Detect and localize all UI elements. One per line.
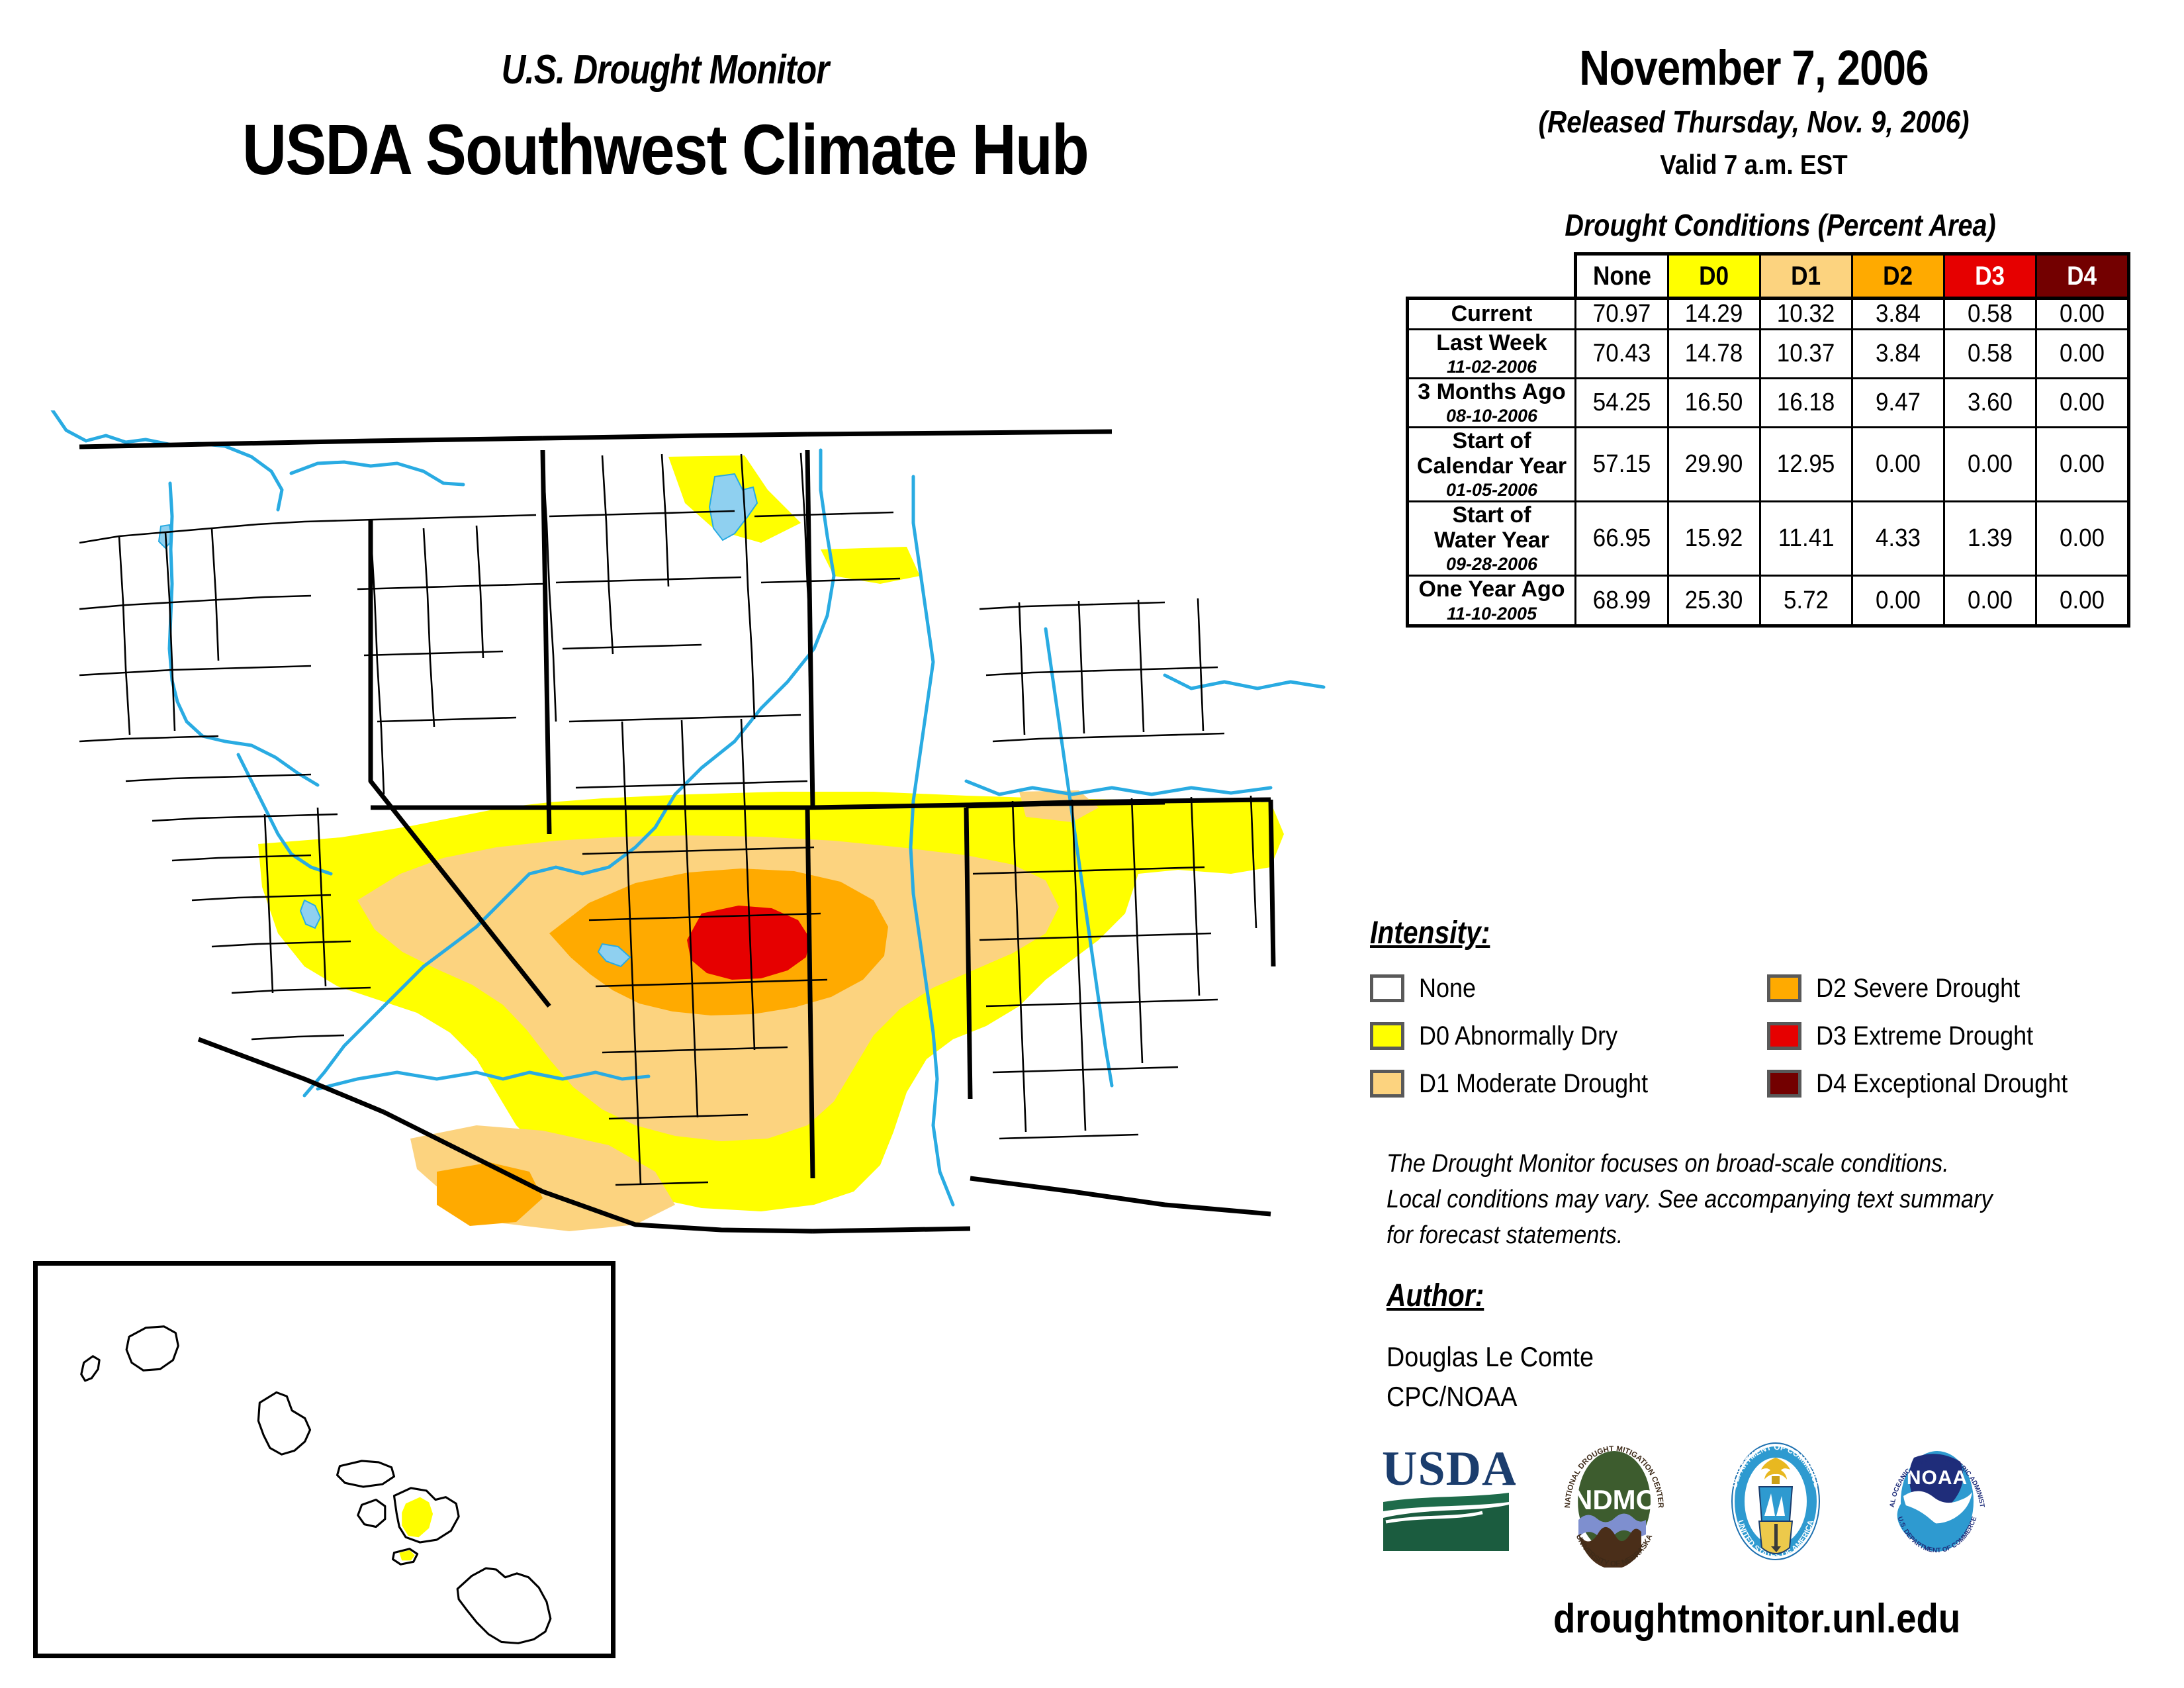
table-header-label: D0: [1699, 261, 1729, 291]
map-date: November 7, 2006: [1406, 40, 2101, 96]
border-tx-panhandle: [1271, 800, 1273, 966]
table-header-label: D1: [1791, 261, 1821, 291]
table-header: NoneD0D1D2D3D4: [1408, 254, 2129, 299]
border-nv-ut: [543, 450, 549, 834]
border-ca-south: [199, 1039, 384, 1112]
table-body: Current70.9714.2910.323.840.580.00Last W…: [1408, 299, 2129, 626]
table-cell-value: 0.00: [1876, 450, 1921, 479]
table-cell-d4: 0.00: [2036, 502, 2129, 576]
legend-swatch: [1767, 974, 1801, 1002]
table-cell-value: 5.72: [1784, 586, 1829, 615]
border-ut-wy: [807, 432, 1112, 434]
legend-label: D0 Abnormally Dry: [1419, 1021, 1617, 1051]
table-cell-none: 66.95: [1576, 502, 1668, 576]
table-cell-d3: 1.39: [1944, 502, 2036, 576]
table-cell-value: 9.47: [1876, 389, 1921, 417]
row-label-date: 11-10-2005: [1409, 604, 1574, 624]
row-label: 3 Months Ago08-10-2006: [1408, 379, 1576, 428]
table-cell-d0: 14.78: [1668, 330, 1760, 379]
table-cell-value: 70.97: [1593, 300, 1651, 328]
table-cell-d0: 29.90: [1668, 428, 1760, 502]
svg-text:NOAA: NOAA: [1907, 1467, 1968, 1489]
table-cell-value: 14.78: [1685, 340, 1743, 368]
river-canadian: [966, 781, 1271, 794]
row-label-date: 08-10-2006: [1409, 406, 1574, 426]
table-header-row: NoneD0D1D2D3D4: [1408, 254, 2129, 299]
table-cell-value: 0.00: [2060, 524, 2105, 553]
author-name: Douglas Le Comte: [1387, 1337, 1594, 1377]
table-cell-d3: 0.00: [1944, 428, 2036, 502]
river-columbia: [50, 410, 282, 510]
logo-row: USDA NDMC NATIONAL DROUGHT MITIGATION CE…: [1377, 1423, 2138, 1582]
disclaimer-line-1: The Drought Monitor focuses on broad-sca…: [1387, 1147, 2060, 1182]
table-cell-value: 12.95: [1777, 450, 1835, 479]
row-label-text: 3 Months Ago: [1409, 379, 1574, 404]
row-label-date: 11-02-2006: [1409, 357, 1574, 377]
drought-map[interactable]: [40, 410, 1337, 1244]
table-cell-value: 11.41: [1778, 524, 1835, 553]
table-header-label: D3: [1975, 261, 2005, 291]
table-cell-d4: 0.00: [2036, 330, 2129, 379]
author-agency: CPC/NOAA: [1387, 1377, 1594, 1417]
row-label-text: Last Week: [1409, 330, 1574, 355]
row-label: One Year Ago11-10-2005: [1408, 576, 1576, 626]
table-cell-value: 10.32: [1777, 300, 1835, 328]
row-label-text: Current: [1409, 301, 1574, 326]
table-row: 3 Months Ago08-10-200654.2516.5016.189.4…: [1408, 379, 2129, 428]
table-cell-d4: 0.00: [2036, 576, 2129, 626]
table-cell-d3: 0.58: [1944, 330, 2036, 379]
legend-grid: NoneD2 Severe DroughtD0 Abnormally DryD3…: [1370, 964, 2158, 1107]
legend-swatch: [1767, 1022, 1801, 1050]
table-header-d4: D4: [2036, 254, 2129, 299]
table-cell-value: 3.84: [1876, 340, 1921, 368]
svg-text:USDA: USDA: [1382, 1442, 1516, 1496]
table-cell-value: 16.18: [1777, 389, 1835, 417]
table-cell-value: 68.99: [1593, 586, 1651, 615]
table-cell-value: 0.00: [1876, 586, 1921, 615]
table-cell-d0: 15.92: [1668, 502, 1760, 576]
website-url[interactable]: droughtmonitor.unl.edu: [1350, 1595, 2164, 1642]
right-column: November 7, 2006 (Released Thursday, Nov…: [1350, 40, 2158, 628]
legend-item: D1 Moderate Drought: [1370, 1069, 1767, 1099]
border-ut-co: [807, 450, 813, 808]
valid-time: Valid 7 a.m. EST: [1398, 149, 2109, 181]
table-header-label: D2: [1883, 261, 1913, 291]
table-cell-value: 0.00: [1968, 450, 2013, 479]
table-cell-value: 0.58: [1968, 340, 2013, 368]
table-cell-d0: 16.50: [1668, 379, 1760, 428]
island-lanai: [358, 1500, 385, 1527]
river-snake: [291, 462, 463, 485]
svg-text:NDMC: NDMC: [1572, 1484, 1656, 1515]
table-cell-d2: 3.84: [1852, 299, 1944, 330]
author-block: Douglas Le Comte CPC/NOAA: [1387, 1337, 1617, 1416]
legend-label: D3 Extreme Drought: [1816, 1021, 2033, 1051]
page-subtitle: U.S. Drought Monitor: [120, 46, 1210, 93]
hawaii-inset-svg: [38, 1266, 611, 1654]
island-hawaii: [457, 1568, 551, 1643]
disclaimer-line-3: for forecast statements.: [1387, 1218, 2060, 1254]
table-row: Current70.9714.2910.323.840.580.00: [1408, 299, 2129, 330]
table-cell-d2: 4.33: [1852, 502, 1944, 576]
river-arkansas: [1165, 675, 1324, 688]
table-cell-d1: 12.95: [1760, 428, 1852, 502]
page-title: USDA Southwest Climate Hub: [93, 108, 1238, 191]
header-spacer: [1408, 254, 1576, 299]
table-cell-d2: 3.84: [1852, 330, 1944, 379]
hawaii-inset-map[interactable]: [33, 1261, 615, 1658]
d0-area-utah-b: [821, 547, 920, 584]
drought-conditions-table: NoneD0D1D2D3D4 Current70.9714.2910.323.8…: [1406, 252, 2130, 628]
table-cell-none: 68.99: [1576, 576, 1668, 626]
border-ut-id: [543, 434, 807, 438]
row-label-text: Start ofCalendar Year: [1409, 428, 1574, 479]
table-cell-value: 0.00: [2060, 450, 2105, 479]
legend-item: D4 Exceptional Drought: [1767, 1069, 2158, 1099]
table-cell-value: 54.25: [1593, 389, 1651, 417]
table-header-d2: D2: [1852, 254, 1944, 299]
island-kauai: [126, 1327, 178, 1370]
island-oahu: [258, 1392, 310, 1454]
legend-swatch: [1370, 1022, 1404, 1050]
legend-item: D2 Severe Drought: [1767, 974, 2158, 1004]
table-cell-none: 70.97: [1576, 299, 1668, 330]
table-cell-d0: 14.29: [1668, 299, 1760, 330]
row-label: Last Week11-02-2006: [1408, 330, 1576, 379]
legend-item: None: [1370, 974, 1767, 1004]
table-row: One Year Ago11-10-200568.9925.305.720.00…: [1408, 576, 2129, 626]
doc-logo: DEPARTMENT OF COMMERCE UNITED STATES OF …: [1713, 1435, 1839, 1571]
table-cell-value: 4.33: [1876, 524, 1921, 553]
noaa-logo: NOAA NATIONAL OCEANIC AND ATMOSPHERIC AD…: [1874, 1435, 2000, 1571]
legend-item: D3 Extreme Drought: [1767, 1021, 2158, 1051]
row-label: Start ofCalendar Year01-05-2006: [1408, 428, 1576, 502]
table-cell-none: 54.25: [1576, 379, 1668, 428]
table-cell-value: 66.95: [1593, 524, 1651, 553]
map-drought-areas: [258, 455, 1284, 1231]
legend-item: D0 Abnormally Dry: [1370, 1021, 1767, 1051]
table-cell-value: 70.43: [1593, 340, 1651, 368]
legend-label: D1 Moderate Drought: [1419, 1069, 1648, 1099]
legend-label: None: [1419, 974, 1476, 1004]
legend-swatch: [1370, 974, 1404, 1002]
table-cell-d3: 0.00: [1944, 576, 2036, 626]
table-cell-d1: 10.32: [1760, 299, 1852, 330]
row-label-date: 01-05-2006: [1409, 480, 1574, 500]
table-cell-value: 0.00: [2060, 389, 2105, 417]
table-row: Last Week11-02-200670.4314.7810.373.840.…: [1408, 330, 2129, 379]
table-cell-d2: 9.47: [1852, 379, 1944, 428]
table-cell-value: 57.15: [1593, 450, 1651, 479]
table-cell-value: 1.39: [1968, 524, 2013, 553]
author-heading: Author:: [1387, 1278, 1484, 1314]
table-cell-d2: 0.00: [1852, 576, 1944, 626]
table-header-none: None: [1576, 254, 1668, 299]
border-tx-south: [970, 1178, 1271, 1214]
row-label-text-2: Calendar Year: [1409, 453, 1574, 479]
table-row: Start ofCalendar Year01-05-200657.1529.9…: [1408, 428, 2129, 502]
table-cell-value: 10.37: [1777, 340, 1835, 368]
table-cell-d3: 3.60: [1944, 379, 2036, 428]
river-sacramento: [169, 483, 318, 785]
table-cell-d4: 0.00: [2036, 379, 2129, 428]
border-nm-mexico: [813, 1229, 970, 1231]
table-cell-value: 3.84: [1876, 300, 1921, 328]
legend-label: D4 Exceptional Drought: [1816, 1069, 2068, 1099]
table-cell-value: 0.00: [2060, 300, 2105, 328]
drought-map-svg: [40, 410, 1337, 1244]
row-label-text-2: Water Year: [1409, 528, 1574, 553]
row-label-text: One Year Ago: [1409, 577, 1574, 602]
table-cell-value: 0.00: [2060, 586, 2105, 615]
disclaimer-line-2: Local conditions may vary. See accompany…: [1387, 1182, 2060, 1218]
island-niihau: [81, 1356, 99, 1381]
usda-logo: USDA: [1377, 1438, 1516, 1568]
row-label: Current: [1408, 299, 1576, 330]
table-header-d3: D3: [1944, 254, 2036, 299]
disclaimer: The Drought Monitor focuses on broad-sca…: [1387, 1147, 2134, 1254]
table-cell-value: 16.50: [1685, 389, 1743, 417]
table-row: Start ofWater Year09-28-200666.9515.9211…: [1408, 502, 2129, 576]
legend-title: Intensity:: [1370, 915, 1490, 951]
table-caption: Drought Conditions (Percent Area): [1456, 207, 2105, 243]
title-block: U.S. Drought Monitor USDA Southwest Clim…: [0, 46, 1330, 191]
table-cell-d3: 0.58: [1944, 299, 2036, 330]
table-cell-value: 0.00: [2060, 340, 2105, 368]
table-cell-value: 29.90: [1685, 450, 1743, 479]
table-cell-d1: 5.72: [1760, 576, 1852, 626]
legend-swatch: [1370, 1070, 1404, 1098]
legend-label: D2 Severe Drought: [1816, 974, 2020, 1004]
table-cell-none: 70.43: [1576, 330, 1668, 379]
table-cell-d4: 0.00: [2036, 299, 2129, 330]
row-label-text: Start ofWater Year: [1409, 502, 1574, 553]
table-cell-d1: 11.41: [1760, 502, 1852, 576]
table-cell-value: 15.92: [1685, 524, 1743, 553]
legend-swatch: [1767, 1070, 1801, 1098]
row-label-date: 09-28-2006: [1409, 554, 1574, 575]
table-cell-value: 0.00: [1968, 586, 2013, 615]
table-cell-value: 3.60: [1968, 389, 2013, 417]
release-date: (Released Thursday, Nov. 9, 2006): [1398, 104, 2109, 140]
table-cell-value: 14.29: [1685, 300, 1743, 328]
island-molokai: [338, 1461, 394, 1487]
legend: Intensity: NoneD2 Severe DroughtD0 Abnor…: [1370, 915, 2158, 1107]
table-header-label: None: [1593, 261, 1651, 291]
table-header-d0: D0: [1668, 254, 1760, 299]
row-label: Start ofWater Year09-28-2006: [1408, 502, 1576, 576]
table-cell-d4: 0.00: [2036, 428, 2129, 502]
table-cell-value: 0.58: [1968, 300, 2013, 328]
table-header-label: D4: [2067, 261, 2097, 291]
table-cell-d1: 10.37: [1760, 330, 1852, 379]
ndmc-logo: NDMC NATIONAL DROUGHT MITIGATION CENTER …: [1551, 1435, 1677, 1571]
table-header-d1: D1: [1760, 254, 1852, 299]
hawaii-islands: [81, 1327, 551, 1644]
table-cell-value: 25.30: [1685, 586, 1743, 615]
table-cell-none: 57.15: [1576, 428, 1668, 502]
table-cell-d2: 0.00: [1852, 428, 1944, 502]
table-cell-d0: 25.30: [1668, 576, 1760, 626]
table-cell-d1: 16.18: [1760, 379, 1852, 428]
